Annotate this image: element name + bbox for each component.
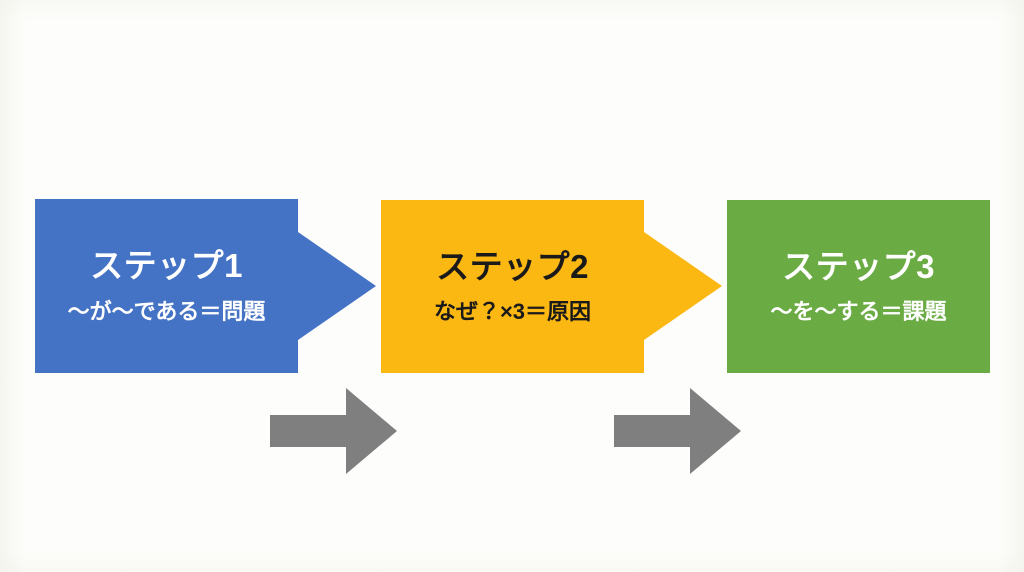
step-1-subtitle: 〜が〜である＝問題 — [68, 300, 266, 323]
step-2-block[interactable]: ステップ2 なぜ？×3＝原因 — [381, 200, 722, 373]
step-3-labels: ステップ3 〜を〜する＝課題 — [770, 250, 946, 324]
step-3-title: ステップ3 — [782, 250, 935, 285]
step-2-subtitle: なぜ？×3＝原因 — [434, 300, 591, 323]
step-1-title: ステップ1 — [90, 249, 243, 284]
right-arrow-icon — [614, 388, 741, 474]
step-1-block[interactable]: ステップ1 〜が〜である＝問題 — [35, 199, 376, 373]
step-3-subtitle: 〜を〜する＝課題 — [770, 300, 946, 323]
step-3-block[interactable]: ステップ3 〜を〜する＝課題 — [727, 200, 990, 373]
step-2-title: ステップ2 — [436, 250, 589, 285]
step-2-labels: ステップ2 なぜ？×3＝原因 — [434, 250, 591, 324]
right-arrow-icon — [270, 388, 397, 474]
step-1-labels: ステップ1 〜が〜である＝問題 — [68, 249, 266, 323]
diagram-canvas: ステップ1 〜が〜である＝問題 ステップ2 なぜ？×3＝原因 ステップ3 〜を〜… — [0, 0, 1024, 572]
